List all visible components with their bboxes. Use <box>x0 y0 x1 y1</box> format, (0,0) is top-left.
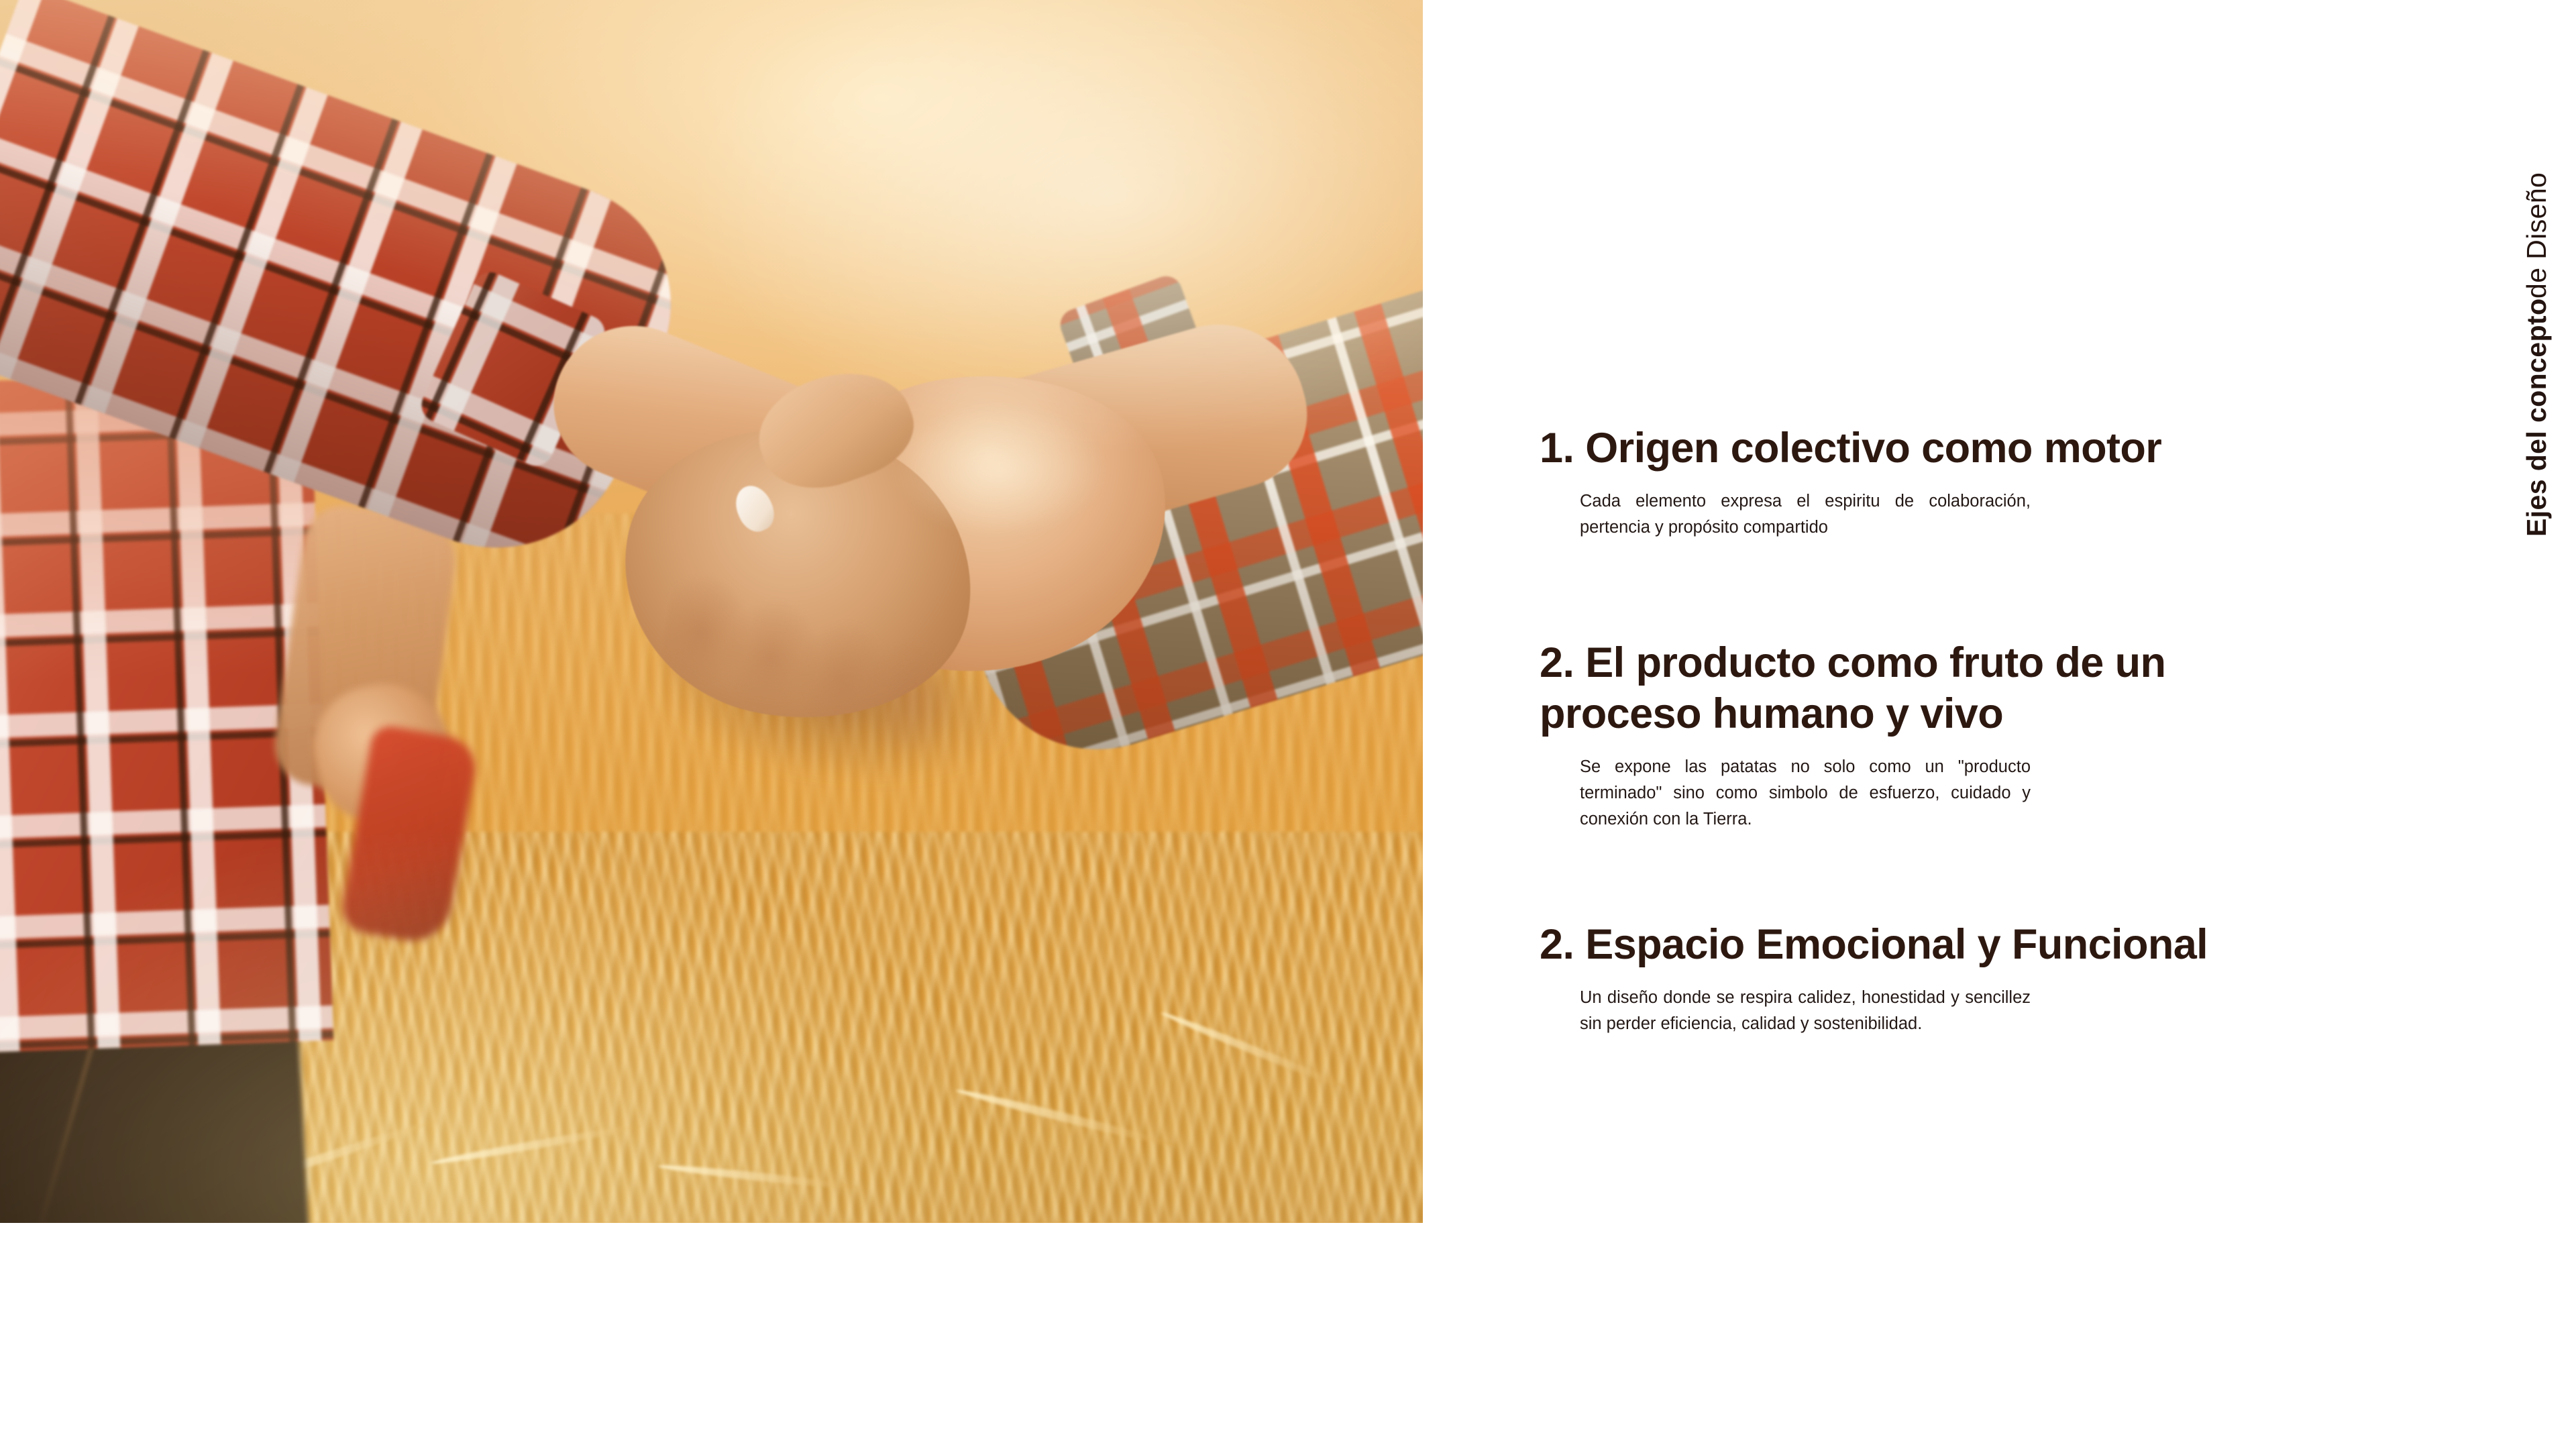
sunset-glow-overlay <box>0 0 1423 1223</box>
footer: Contexto Objetivos Concepto Diseño Stand… <box>0 1223 2576 1449</box>
concept-block-1: 1. Origen colectivo como motor Cada elem… <box>1540 423 2271 541</box>
section-label-light: de Diseño <box>2523 172 2551 298</box>
concept-block-2: 2. El producto como fruto de un proceso … <box>1540 637 2271 833</box>
content-column: 1. Origen colectivo como motor Cada elem… <box>1540 0 2345 1223</box>
concept-description: Se expone las patatas no solo como un "p… <box>1580 754 2031 832</box>
section-label-strong: Ejes del concepto <box>2523 299 2551 537</box>
concept-block-3: 2. Espacio Emocional y Funcional Un dise… <box>1540 919 2271 1037</box>
hero-photo-handshake-wheatfield <box>0 0 1423 1223</box>
slide: 1. Origen colectivo como motor Cada elem… <box>0 0 2576 1449</box>
concept-description: Un diseño donde se respira calidez, hone… <box>1580 985 2031 1037</box>
concept-heading: 2. Espacio Emocional y Funcional <box>1540 919 2271 970</box>
concept-description: Cada elemento expresa el espiritu de col… <box>1580 488 2031 541</box>
concept-heading: 1. Origen colectivo como motor <box>1540 423 2271 474</box>
vertical-section-label: Ejes del concepto de Diseño <box>2523 134 2551 537</box>
concept-heading: 2. El producto como fruto de un proceso … <box>1540 637 2271 739</box>
